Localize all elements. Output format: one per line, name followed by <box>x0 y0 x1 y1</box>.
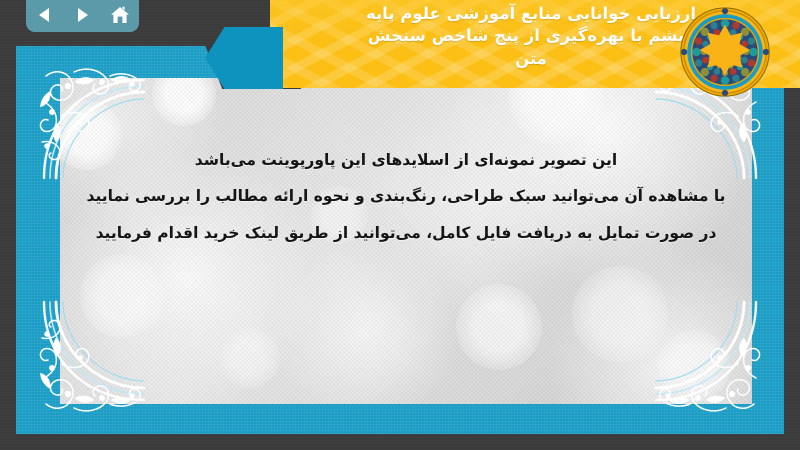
previous-slide-button[interactable] <box>31 3 59 27</box>
bokeh-circle <box>456 284 542 370</box>
home-button[interactable] <box>106 3 134 27</box>
bokeh-circle <box>572 266 668 362</box>
presentation-slide: ارزیابی خوانایی منابع آموزشی علوم پایه ش… <box>0 0 800 450</box>
islamic-medallion-ornament <box>679 6 771 98</box>
next-slide-button[interactable] <box>68 3 96 27</box>
slide-content-panel: این تصویر نمونه‌ای از اسلایدهای این پاور… <box>60 78 752 404</box>
bokeh-circle <box>220 328 280 388</box>
bokeh-circle <box>658 330 730 402</box>
body-line-2: با مشاهده آن می‌توانید سبک طراحی، رنگ‌بن… <box>82 178 730 214</box>
body-line-3: در صورت تمایل به دریافت فایل کامل، می‌تو… <box>82 215 730 251</box>
home-icon <box>110 6 130 25</box>
bokeh-circle <box>80 254 164 338</box>
slide-navigation-bar <box>26 0 139 32</box>
body-line-1: این تصویر نمونه‌ای از اسلایدهای این پاور… <box>82 142 730 178</box>
slide-frame: این تصویر نمونه‌ای از اسلایدهای این پاور… <box>16 46 784 434</box>
triangle-left-icon <box>36 6 54 24</box>
triangle-right-icon <box>73 6 91 24</box>
bokeh-circle <box>152 78 216 126</box>
slide-body-text: این تصویر نمونه‌ای از اسلایدهای این پاور… <box>60 142 752 251</box>
